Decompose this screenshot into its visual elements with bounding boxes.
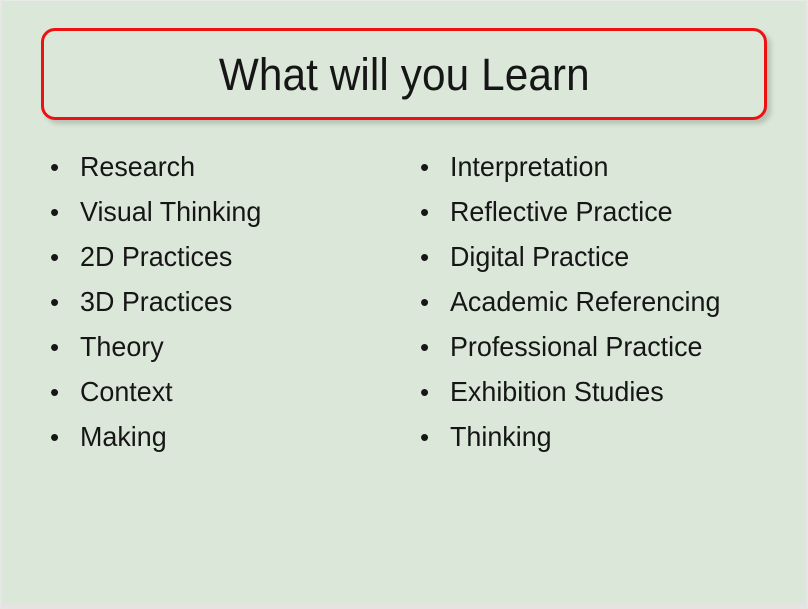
bullet-dot-icon: • xyxy=(420,235,450,280)
list-item: • Making xyxy=(50,414,420,459)
list-item: • Context xyxy=(50,369,420,414)
bullet-dot-icon: • xyxy=(420,145,450,190)
bullet-dot-icon: • xyxy=(420,415,450,460)
bullet-columns: • Research • Visual Thinking • 2D Practi… xyxy=(2,144,806,464)
list-item-label: Digital Practice xyxy=(450,234,786,279)
bullet-dot-icon: • xyxy=(50,145,80,190)
list-item: • Visual Thinking xyxy=(50,189,420,234)
title-box: What will you Learn xyxy=(41,28,767,120)
list-item: • Theory xyxy=(50,324,420,369)
bullet-dot-icon: • xyxy=(420,325,450,370)
list-item: • 3D Practices xyxy=(50,279,420,324)
list-item: • Academic Referencing xyxy=(420,279,800,324)
bullet-column-left: • Research • Visual Thinking • 2D Practi… xyxy=(50,144,420,459)
bullet-dot-icon: • xyxy=(50,235,80,280)
page-title: What will you Learn xyxy=(219,52,590,97)
bullet-column-right: • Interpretation • Reflective Practice •… xyxy=(420,144,800,459)
bullet-dot-icon: • xyxy=(50,415,80,460)
list-item-label: Interpretation xyxy=(450,144,786,189)
list-item-label: Academic Referencing xyxy=(450,279,786,324)
list-item: • Exhibition Studies xyxy=(420,369,800,414)
bullet-dot-icon: • xyxy=(420,370,450,415)
list-item: • Thinking xyxy=(420,414,800,459)
list-item: • Professional Practice xyxy=(420,324,800,369)
list-item-label: Theory xyxy=(80,324,406,369)
slide-canvas: What will you Learn • Research • Visual … xyxy=(0,0,808,609)
bullet-list-right: • Interpretation • Reflective Practice •… xyxy=(420,144,800,459)
list-item-label: Context xyxy=(80,369,406,414)
list-item-label: Research xyxy=(80,144,406,189)
list-item-label: Professional Practice xyxy=(450,324,786,369)
list-item-label: Making xyxy=(80,414,406,459)
bullet-dot-icon: • xyxy=(50,280,80,325)
bullet-dot-icon: • xyxy=(50,190,80,235)
list-item-label: Thinking xyxy=(450,414,786,459)
list-item: • Reflective Practice xyxy=(420,189,800,234)
list-item-label: Visual Thinking xyxy=(80,189,406,234)
list-item-label: Exhibition Studies xyxy=(450,369,786,414)
list-item: • 2D Practices xyxy=(50,234,420,279)
bullet-dot-icon: • xyxy=(50,325,80,370)
bullet-list-left: • Research • Visual Thinking • 2D Practi… xyxy=(50,144,420,459)
list-item: • Interpretation xyxy=(420,144,800,189)
list-item: • Research xyxy=(50,144,420,189)
list-item-label: 2D Practices xyxy=(80,234,406,279)
bullet-dot-icon: • xyxy=(420,280,450,325)
bullet-dot-icon: • xyxy=(50,370,80,415)
list-item-label: 3D Practices xyxy=(80,279,406,324)
list-item: • Digital Practice xyxy=(420,234,800,279)
list-item-label: Reflective Practice xyxy=(450,189,786,234)
bullet-dot-icon: • xyxy=(420,190,450,235)
